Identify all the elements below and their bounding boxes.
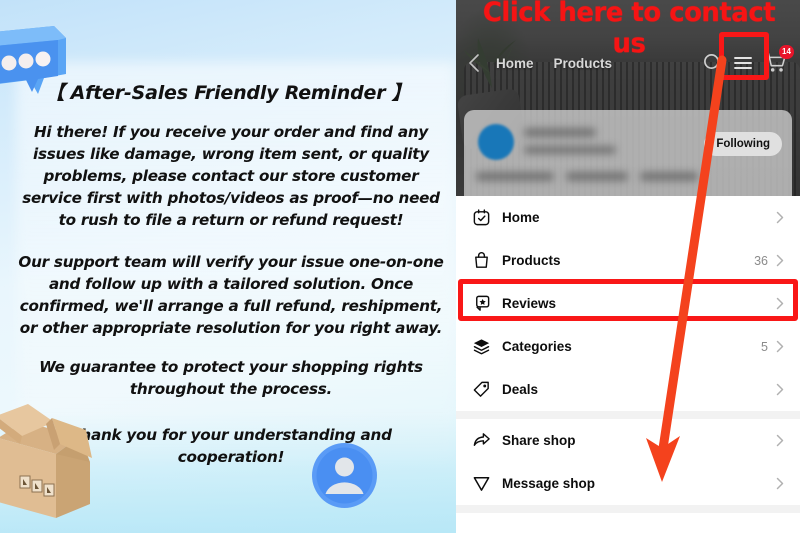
tag-icon <box>472 380 491 399</box>
chevron-right-icon <box>776 297 784 310</box>
menu-item-message-shop[interactable]: Message shop <box>456 462 800 505</box>
callout-text: Click here to contact us <box>465 0 793 59</box>
chevron-right-icon <box>776 477 784 490</box>
share-icon <box>472 431 491 450</box>
shop-stat-3-redacted <box>640 172 698 181</box>
layers-icon <box>472 337 491 356</box>
menu-item-label: Reviews <box>502 296 768 311</box>
screenshot-root: 【 After-Sales Friendly Reminder 】 Hi the… <box>0 0 800 533</box>
chevron-right-icon <box>776 434 784 447</box>
menu-item-deals[interactable]: Deals <box>456 368 800 411</box>
page-title: 【 After-Sales Friendly Reminder 】 <box>0 78 456 105</box>
menu-section-divider <box>456 411 800 419</box>
menu-item-home[interactable]: Home <box>456 196 800 239</box>
shop-avatar <box>478 124 514 160</box>
chevron-right-icon <box>776 340 784 353</box>
user-avatar-icon <box>312 443 377 508</box>
shop-info-card[interactable]: Following <box>464 110 792 196</box>
menu-item-label: Share shop <box>502 433 768 448</box>
menu-item-count: 5 <box>761 340 768 354</box>
menu-item-label: Products <box>502 253 754 268</box>
chevron-right-icon <box>776 254 784 267</box>
open-box-icon <box>0 392 106 533</box>
reminder-paragraph-1: Hi there! If you receive your order and … <box>16 121 446 231</box>
bag-icon <box>472 251 491 270</box>
after-sales-reminder-panel: 【 After-Sales Friendly Reminder 】 Hi the… <box>0 0 456 533</box>
menu-item-share-shop[interactable]: Share shop <box>456 419 800 462</box>
shop-name-redacted <box>524 128 596 137</box>
shop-menu-sheet: Home Products 36 <box>456 196 800 533</box>
menu-item-reviews[interactable]: Reviews <box>456 282 800 325</box>
menu-item-categories[interactable]: Categories 5 <box>456 325 800 368</box>
shop-subtitle-redacted <box>524 146 616 154</box>
chevron-right-icon <box>776 211 784 224</box>
menu-item-products[interactable]: Products 36 <box>456 239 800 282</box>
menu-item-count: 36 <box>754 254 768 268</box>
send-icon <box>472 474 491 493</box>
menu-item-label: Home <box>502 210 768 225</box>
home-icon <box>472 208 491 227</box>
menu-item-label: Message shop <box>502 476 768 491</box>
reminder-paragraph-2: Our support team will verify your issue … <box>16 251 446 339</box>
menu-item-label: Deals <box>502 382 768 397</box>
shop-app-screenshot: Home Products 14 <box>456 0 800 533</box>
chevron-right-icon <box>776 383 784 396</box>
shop-stat-1-redacted <box>476 172 554 181</box>
shop-stat-2-redacted <box>566 172 628 181</box>
menu-item-label: Categories <box>502 339 761 354</box>
menu-bottom-divider <box>456 505 800 513</box>
following-button[interactable]: Following <box>704 132 782 156</box>
review-icon <box>472 294 491 313</box>
